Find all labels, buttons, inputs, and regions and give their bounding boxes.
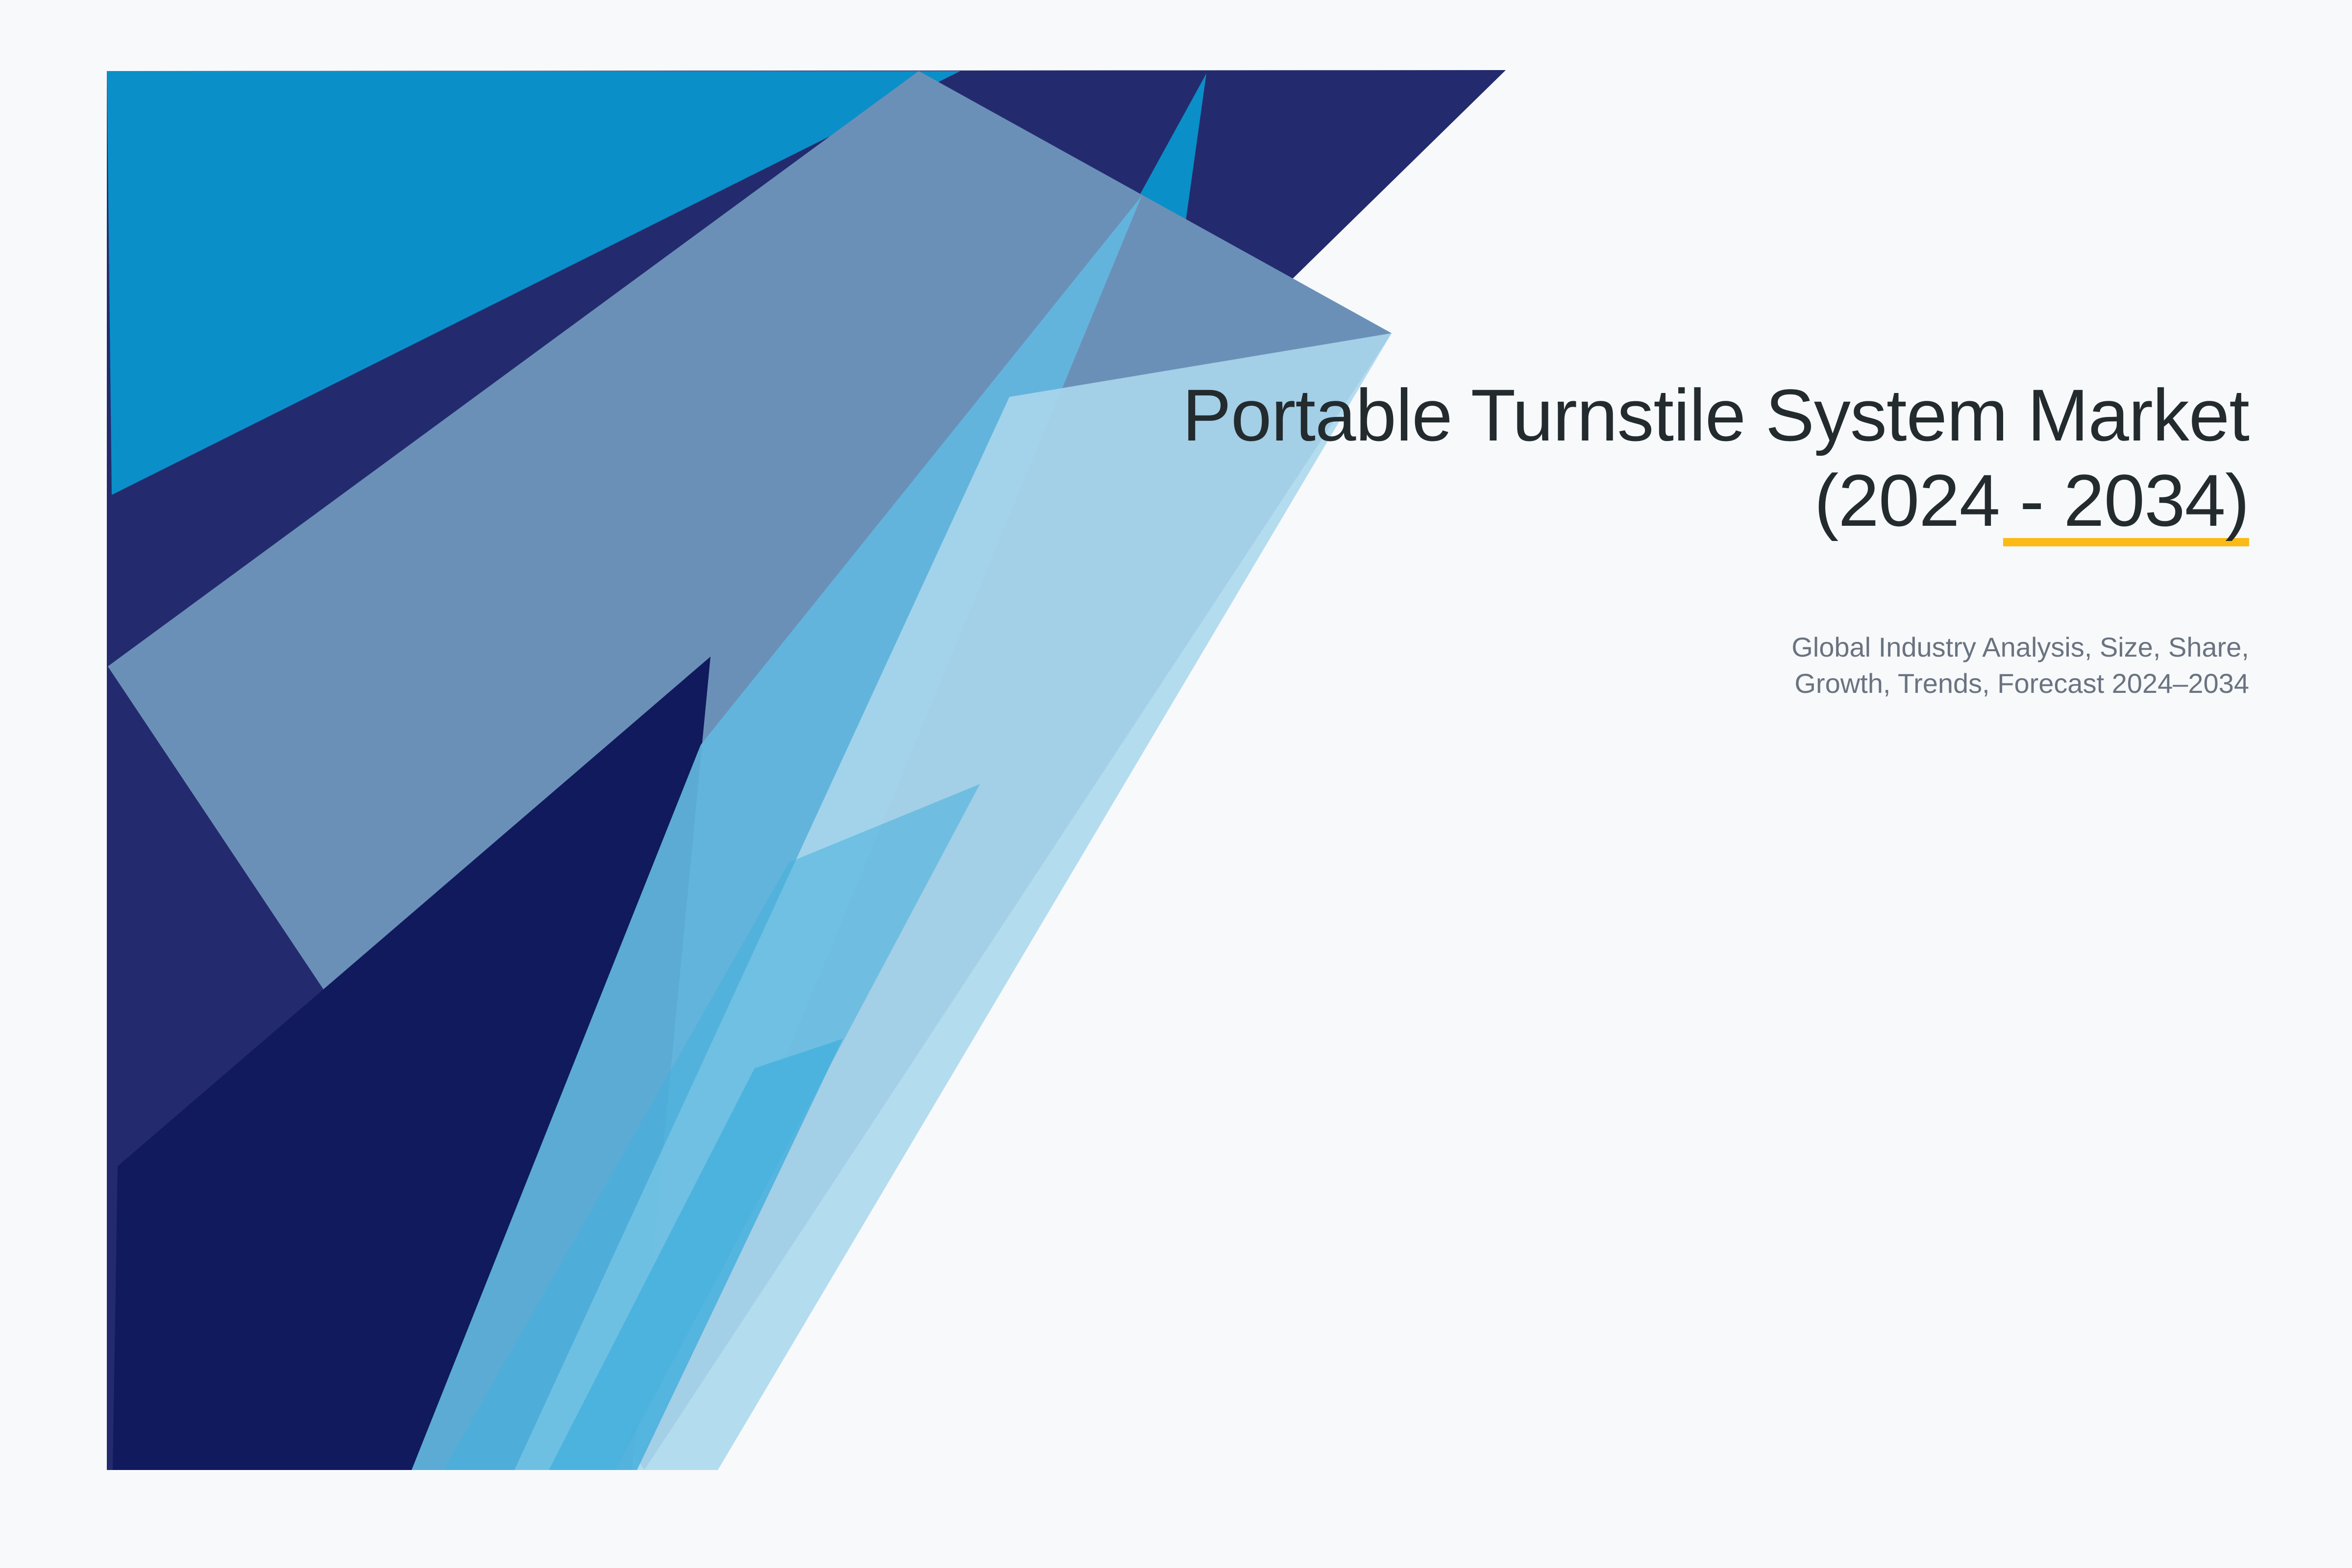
light-blue-edge: [549, 1039, 843, 1470]
title-line-2: (2024 - 2034): [975, 458, 2249, 543]
navy-left-column: [107, 70, 1506, 1470]
poster-canvas: Portable Turnstile System Market (2024 -…: [0, 0, 2352, 1568]
slate-diamond: [108, 71, 1392, 1470]
cyan-top-block: [107, 71, 980, 1044]
subtitle-line-1: Global Industry Analysis, Size, Share,: [975, 629, 2249, 665]
cyan-upper-triangle: [107, 71, 960, 495]
title-block: Portable Turnstile System Market (2024 -…: [975, 372, 2249, 702]
page-subtitle: Global Industry Analysis, Size, Share, G…: [975, 629, 2249, 702]
abstract-banner-graphic: [0, 0, 2352, 1568]
subtitle-line-2: Growth, Trends, Forecast 2024–2034: [975, 665, 2249, 702]
light-blue-fan: [443, 784, 980, 1470]
page-title: Portable Turnstile System Market (2024 -…: [975, 372, 2249, 543]
deep-navy-arrow: [113, 657, 710, 1470]
title-line-1: Portable Turnstile System Market: [975, 372, 2249, 458]
